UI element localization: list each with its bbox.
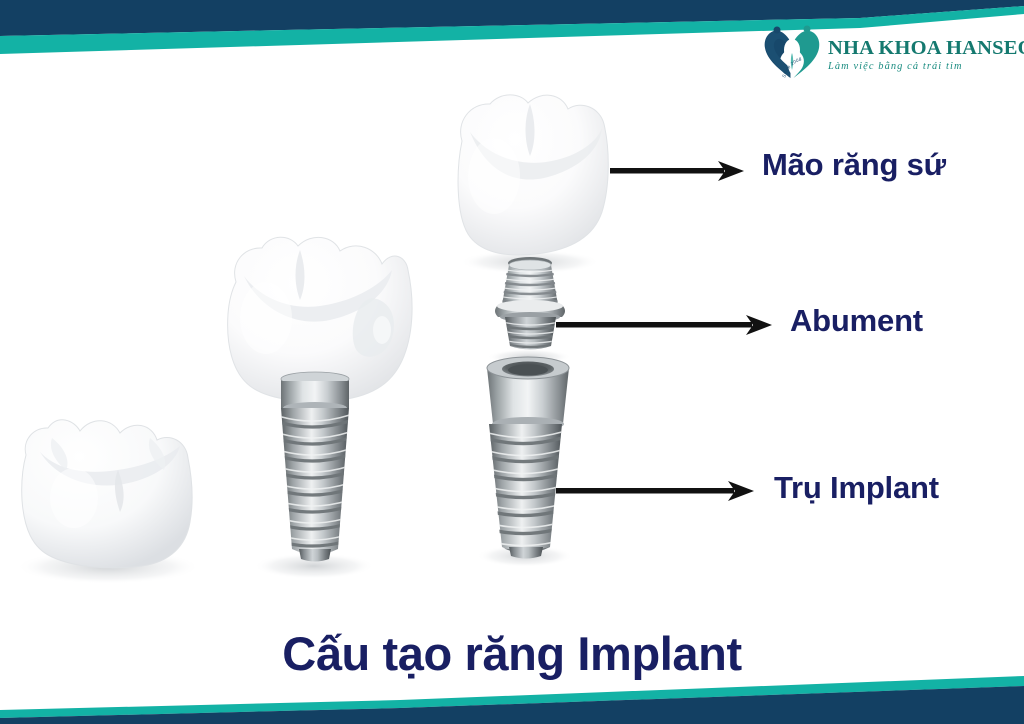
post-collar bbox=[487, 368, 569, 424]
callout-label-crown: Mão răng sứ bbox=[762, 147, 946, 183]
shadow-implant-post bbox=[477, 545, 573, 567]
crown-seat bbox=[508, 257, 552, 269]
shadow-crown-exploded bbox=[460, 250, 600, 274]
decorative-corner-bands bbox=[0, 0, 1024, 724]
exploded-implant-post-figure bbox=[478, 357, 574, 559]
callout-label-abutment: Abument bbox=[790, 303, 923, 339]
arrow-right-icon-abutment bbox=[556, 312, 774, 338]
implant-neck bbox=[281, 381, 349, 409]
natural-tooth-figure bbox=[22, 420, 192, 568]
shadow-assembled bbox=[254, 553, 374, 579]
page-title: Cấu tạo răng Implant bbox=[0, 626, 1024, 681]
abutment-flange bbox=[495, 305, 565, 317]
poster-canvas: Since 2008 NHA KHOA HANSEOUL® Làm việc b… bbox=[0, 0, 1024, 724]
implant-collar bbox=[281, 379, 349, 408]
shadow-natural-tooth bbox=[16, 550, 200, 584]
exploded-crown-figure bbox=[458, 95, 608, 269]
arrow-right-icon-post bbox=[556, 478, 756, 504]
post-threads bbox=[489, 424, 562, 553]
brand-logo[interactable]: Since 2008 NHA KHOA HANSEOUL® Làm việc b… bbox=[762, 22, 1014, 84]
heart-tooth-people-logo-icon: Since 2008 bbox=[762, 24, 822, 82]
brand-name-text: NHA KHOA HANSEOUL bbox=[828, 37, 1024, 59]
implant-illustration bbox=[0, 0, 1024, 724]
callout-label-post: Trụ Implant bbox=[774, 470, 939, 506]
post-bore bbox=[502, 362, 554, 377]
implant-threads bbox=[281, 408, 349, 555]
assembled-implant-figure bbox=[228, 237, 412, 561]
shadow-abutment bbox=[487, 349, 571, 365]
brand-tagline: Làm việc bằng cả trái tim bbox=[828, 61, 1024, 72]
logo-wordmark-group: NHA KHOA HANSEOUL® Làm việc bằng cả trái… bbox=[828, 34, 1024, 73]
brand-name: NHA KHOA HANSEOUL® bbox=[828, 38, 1024, 60]
thread-ridges bbox=[272, 412, 358, 546]
bottom-navy-band bbox=[0, 686, 1024, 724]
bottom-teal-band bbox=[0, 676, 1024, 718]
arrow-right-icon-crown bbox=[610, 158, 746, 184]
